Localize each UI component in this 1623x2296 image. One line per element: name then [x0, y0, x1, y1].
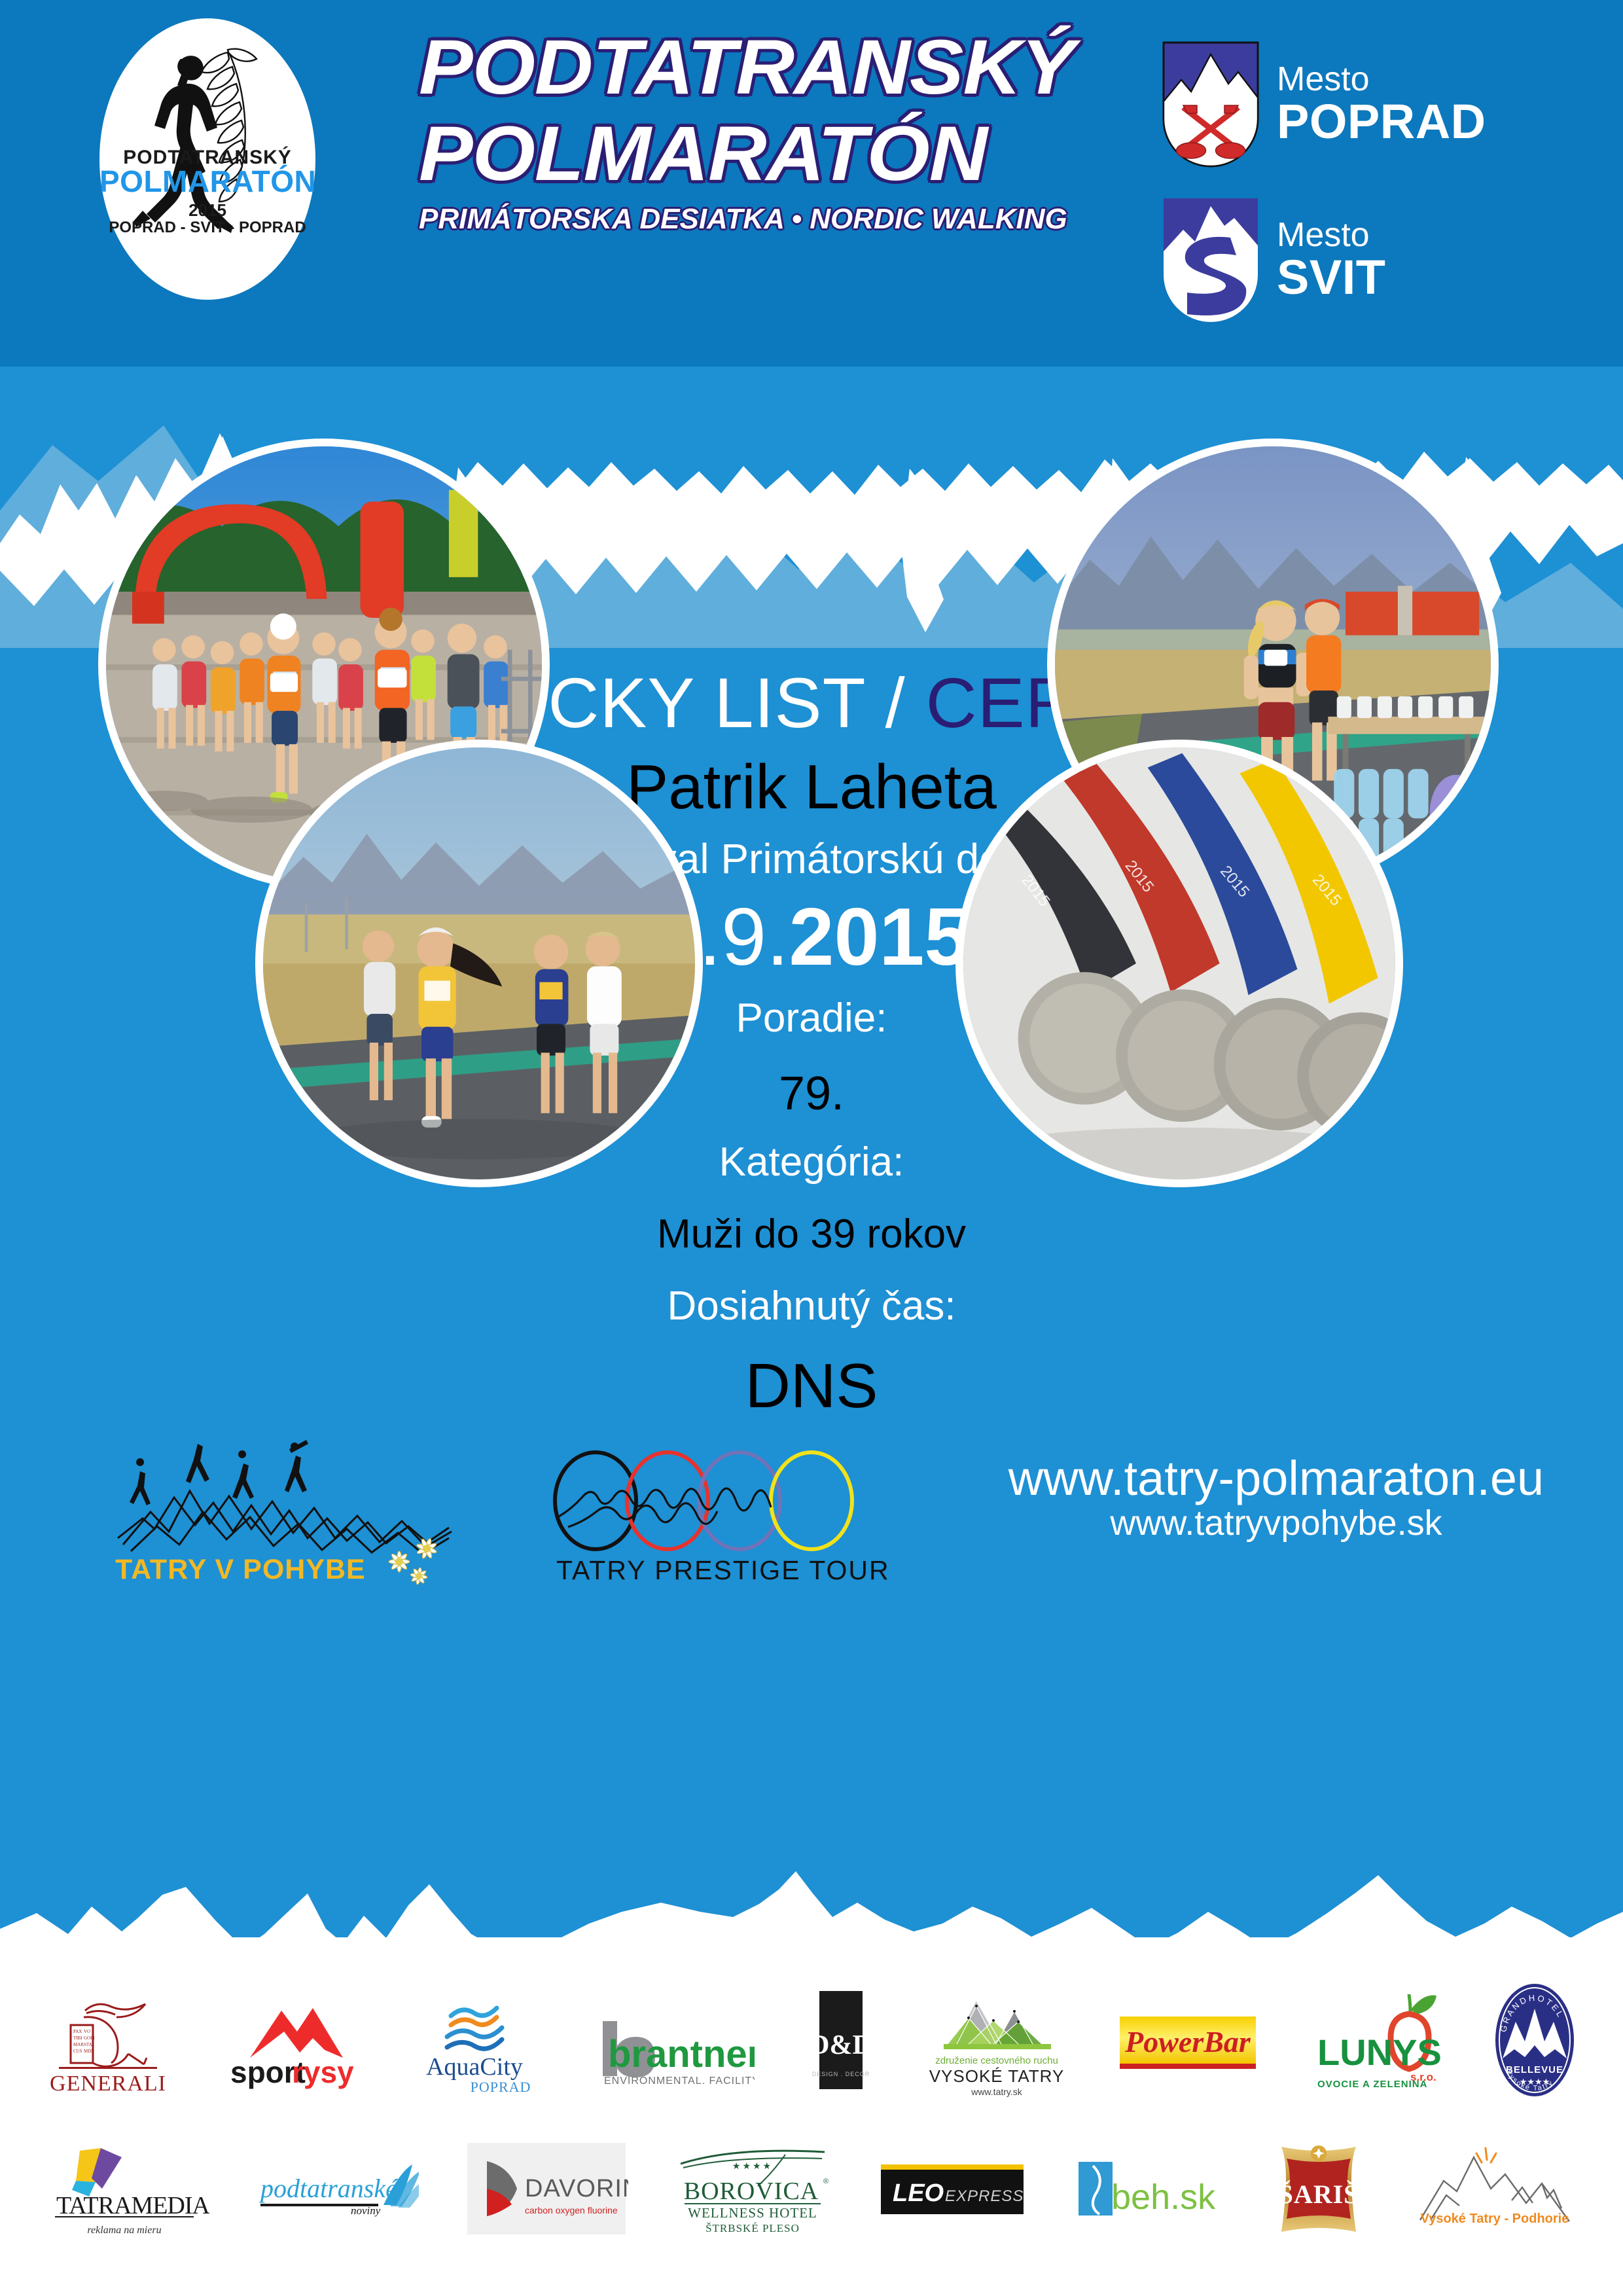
tatry-prestige-tour-label: TATRY PRESTIGE TOUR: [556, 1555, 890, 1585]
sponsor-saris[interactable]: ŠARIŠ: [1270, 2134, 1368, 2245]
sponsor-brantner[interactable]: brantner ENVIRONMENTAL. FACILITY SERVICE…: [591, 1978, 755, 2102]
vysoke-tatry-label-1: združenie cestovného ruchu: [935, 2055, 1058, 2066]
sponsor-sportrysy[interactable]: sport rysy: [221, 1978, 359, 2102]
borovica-label-2: BOROVICA: [684, 2178, 819, 2205]
sponsor-behsk[interactable]: beh.sk: [1073, 2134, 1224, 2245]
vysoke-tatry-label-2: VYSOKÉ TATRY: [929, 2066, 1064, 2086]
sponsor-borovica[interactable]: ★★★★ BOROVICA ® WELLNESS HOTEL ŠTRBSKÉ P…: [674, 2134, 831, 2245]
aquacity-label-2: POPRAD: [471, 2079, 531, 2095]
svg-text:STA: STA: [84, 2042, 92, 2047]
borovica-label-3: WELLNESS HOTEL: [688, 2205, 817, 2221]
race-date-year: 2015: [789, 892, 969, 982]
vysoke-tatry-podhorie-label: Vysoké Tatry - Podhorie: [1421, 2212, 1569, 2226]
city-block-svit: Mesto SVIT: [1162, 196, 1385, 324]
city-block-poprad: Mesto POPRAD: [1162, 41, 1486, 168]
city-text-svit: Mesto SVIT: [1277, 218, 1385, 302]
result-value-time: DNS: [497, 1355, 1126, 1418]
sponsor-grandhotel-bellevue[interactable]: GRANDHOTEL BELLEVUE ★★★★ Vysoké Tatry: [1492, 1978, 1577, 2102]
aquacity-label-1: AquaCity: [426, 2053, 523, 2081]
url-secondary[interactable]: www.tatryvpohybe.sk: [955, 1504, 1597, 1543]
emblem-line-3: 2015: [99, 200, 315, 221]
lunys-label-3: OVOCIE A ZELENINA: [1317, 2079, 1427, 2090]
svg-text:PAX: PAX: [73, 2029, 82, 2034]
svg-text:MDS: MDS: [84, 2049, 94, 2054]
sponsor-davorin[interactable]: DAVORIN carbon oxygen fluorine: [465, 2134, 628, 2245]
sponsor-strip: PAXVO TIBIGOLI MARSTA CUSMDS GENERALI sp…: [0, 1937, 1623, 2296]
wordmark-line-2: POLMARATÓN: [419, 115, 1133, 192]
tatramedia-label-2: reklama na mieru: [87, 2225, 161, 2236]
sponsor-lunys[interactable]: LUNYS s.r.o. OVOCIE A ZELENINA: [1311, 1978, 1442, 2102]
url-primary[interactable]: www.tatry-polmaraton.eu: [955, 1453, 1597, 1504]
svg-text:TIBI: TIBI: [73, 2036, 82, 2041]
result-label-time: Dosiahnutý čas:: [497, 1286, 1126, 1327]
vysoke-tatry-label-3: www.tatry.sk: [971, 2087, 1023, 2097]
borovica-label-4: ŠTRBSKÉ PLESO: [705, 2222, 800, 2234]
city-name: SVIT: [1277, 253, 1385, 302]
sponsor-tatramedia[interactable]: TATRAMEDIA reklama na mieru: [46, 2134, 209, 2245]
dd-label-1: D&D: [810, 2030, 872, 2060]
sponsor-aquacity[interactable]: AquaCity POPRAD: [409, 1978, 540, 2102]
generali-label: GENERALI: [50, 2072, 166, 2096]
emblem-line-4: POPRAD - SVIT - POPRAD: [99, 219, 315, 237]
davorin-label-1: DAVORIN: [525, 2175, 628, 2202]
wordmark-subtitle: PRIMÁTORSKA DESIATKA • NORDIC WALKING: [419, 203, 1099, 236]
dd-label-2: DESIGN . DECOR: [812, 2071, 870, 2077]
davorin-label-2: carbon oxygen fluorine: [525, 2205, 618, 2215]
sportrysy-label-2: rysy: [292, 2055, 354, 2089]
sponsor-podtatranske-noviny[interactable]: podtatranské noviny: [255, 2134, 419, 2245]
tatry-v-pohybe-logo[interactable]: TATRY V POHYBE: [111, 1440, 465, 1590]
podtatranske-label-2: noviny: [351, 2204, 381, 2217]
event-wordmark: PODTATRANSKÝ POLMARATÓN PRIMÁTORSKA DESI…: [419, 29, 1099, 236]
wordmark-line-1: PODTATRANSKÝ: [419, 29, 1133, 106]
sponsor-leo-express[interactable]: LEO EXPRESS: [877, 2134, 1027, 2245]
city-prefix: Mesto: [1277, 218, 1385, 253]
emblem-line-2: POLMARATÓN: [99, 164, 315, 199]
sponsor-generali[interactable]: PAXVO TIBIGOLI MARSTA CUSMDS GENERALI: [46, 1978, 170, 2102]
sponsor-powerbar[interactable]: PowerBar: [1116, 1978, 1260, 2102]
photo-runners-field: [255, 740, 703, 1187]
borovica-stars: ★★★★: [732, 2161, 773, 2171]
sponsor-vysoke-tatry-podhorie[interactable]: Vysoké Tatry - Podhorie: [1414, 2134, 1577, 2245]
powerbar-label: PowerBar: [1124, 2025, 1251, 2058]
brantner-label-2: ENVIRONMENTAL. FACILITY SERVICES: [604, 2075, 755, 2087]
result-value-category: Muži do 39 rokov: [497, 1214, 1126, 1255]
city-name: POPRAD: [1277, 97, 1486, 146]
podtatranske-label-1: podtatranské: [259, 2174, 399, 2203]
title-separator: /: [865, 663, 926, 742]
svg-text:®: ®: [823, 2178, 829, 2185]
brantner-label-1: brantner: [608, 2033, 755, 2075]
svit-coat-of-arms-icon: [1162, 196, 1260, 324]
photo-runners-field-image: [263, 747, 695, 1179]
poprad-coat-of-arms-icon: [1162, 41, 1260, 168]
leo-label-1: LEO: [893, 2179, 944, 2207]
tatry-prestige-tour-logo[interactable]: TATRY PRESTIGE TOUR: [543, 1443, 897, 1594]
city-prefix: Mesto: [1277, 62, 1486, 97]
sponsor-row-2: TATRAMEDIA reklama na mieru podtatranské…: [0, 2134, 1623, 2245]
tatramedia-label-1: TATRAMEDIA: [56, 2192, 209, 2219]
sponsor-vysoke-tatry[interactable]: združenie cestovného ruchu VYSOKÉ TATRY …: [928, 1978, 1065, 2102]
main-content: ÚČASTNÍCKY LIST / CERTIFICATE Patrik Lah…: [0, 367, 1623, 1937]
svg-text:MAR: MAR: [73, 2042, 84, 2047]
svg-text:VO: VO: [84, 2029, 90, 2034]
tatry-v-pohybe-label: TATRY V POHYBE: [115, 1554, 366, 1585]
sponsor-row-1: PAXVO TIBIGOLI MARSTA CUSMDS GENERALI sp…: [0, 1978, 1623, 2102]
behsk-label: beh.sk: [1111, 2178, 1216, 2217]
saris-label: ŠARIŠ: [1279, 2179, 1359, 2209]
sponsor-dd-design-decor[interactable]: D&D DESIGN . DECOR: [805, 1978, 877, 2102]
event-emblem: PODTATRANSKÝ POLMARATÓN 2015 POPRAD - SV…: [99, 18, 315, 300]
svg-text:GOLI: GOLI: [84, 2036, 95, 2041]
grandhotel-label-2: BELLEVUE: [1506, 2064, 1563, 2075]
lunys-label-1: LUNYS: [1317, 2032, 1442, 2073]
leo-label-2: EXPRESS: [945, 2187, 1024, 2205]
website-urls: www.tatry-polmaraton.eu www.tatryvpohybe…: [955, 1453, 1597, 1543]
city-text-poprad: Mesto POPRAD: [1277, 62, 1486, 147]
svg-text:CUS: CUS: [73, 2049, 82, 2054]
photo-medals-image: 2015 2015 2015 2015: [963, 747, 1395, 1179]
photo-medals: 2015 2015 2015 2015: [955, 740, 1403, 1187]
certificate-poster: PODTATRANSKÝ POLMARATÓN 2015 POPRAD - SV…: [0, 0, 1623, 2296]
